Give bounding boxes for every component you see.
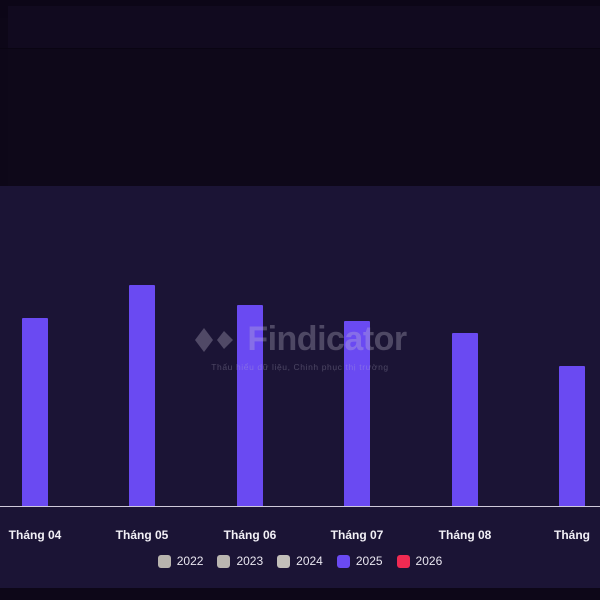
legend-item[interactable]: 2023 [217,554,263,568]
chart-screenshot: Findicator Thấu hiểu dữ liệu, Chinh phục… [0,0,600,600]
legend-item[interactable]: 2025 [337,554,383,568]
top-panel [0,0,600,186]
legend-swatch-icon [217,555,230,568]
bar[interactable] [559,366,585,506]
legend-label: 2022 [177,554,204,568]
legend-item[interactable]: 2026 [397,554,443,568]
x-axis-tick-label: Tháng [554,528,590,542]
legend-swatch-icon [158,555,171,568]
bar[interactable] [129,285,155,506]
chart-legend: 20222023202420252026 [0,554,600,568]
x-axis-tick-label: Tháng 08 [439,528,492,542]
legend-swatch-icon [397,555,410,568]
bar[interactable] [22,318,48,506]
legend-label: 2024 [296,554,323,568]
legend-item[interactable]: 2024 [277,554,323,568]
chart-panel: Findicator Thấu hiểu dữ liệu, Chinh phục… [0,186,600,588]
bottom-strip [0,588,600,600]
bar-plot-area [0,186,600,506]
x-axis-tick-label: Tháng 04 [9,528,62,542]
bar[interactable] [452,333,478,506]
legend-swatch-icon [337,555,350,568]
x-axis-tick-label: Tháng 07 [331,528,384,542]
top-panel-body-area [8,49,600,186]
bar[interactable] [237,305,263,506]
legend-label: 2023 [236,554,263,568]
top-panel-header-area [8,6,600,48]
x-axis-tick-label: Tháng 06 [224,528,277,542]
legend-swatch-icon [277,555,290,568]
legend-item[interactable]: 2022 [158,554,204,568]
x-axis-tick-label: Tháng 05 [116,528,169,542]
legend-label: 2026 [416,554,443,568]
legend-label: 2025 [356,554,383,568]
x-axis-labels: Tháng 04Tháng 05Tháng 06Tháng 07Tháng 08… [0,506,600,556]
bar[interactable] [344,321,370,506]
